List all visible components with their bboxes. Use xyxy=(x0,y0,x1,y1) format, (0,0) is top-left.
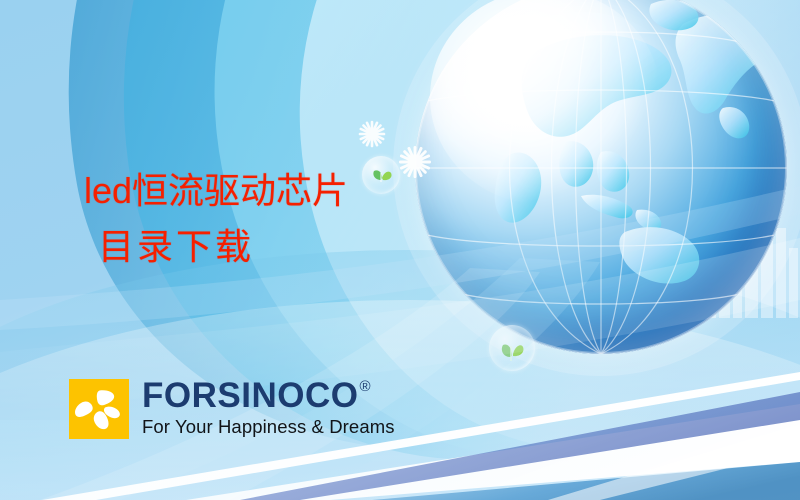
brand-logo[interactable]: FORSINOCO ® For Your Happiness & Dreams xyxy=(69,379,395,439)
sparkle-asterisk-icon xyxy=(398,145,432,179)
logo-wordmark: FORSINOCO ® xyxy=(142,377,395,415)
logo-brand-name: FORSINOCO xyxy=(142,377,358,415)
forsinoco-pinwheel-icon xyxy=(69,379,129,439)
registered-trademark-icon: ® xyxy=(359,379,371,394)
four-petal-pinwheel-icon xyxy=(69,379,129,439)
bubble-with-leaf-icon xyxy=(489,325,535,371)
sparkle-asterisk-icon xyxy=(358,120,386,148)
page-title: led恒流驱动芯片 目录下载 xyxy=(84,163,348,275)
headline-line-1: led恒流驱动芯片 xyxy=(84,170,348,211)
globe-icon xyxy=(415,0,787,354)
bubble-with-leaf-icon xyxy=(362,156,400,194)
logo-tagline: For Your Happiness & Dreams xyxy=(142,416,395,437)
logo-text-block: FORSINOCO ® For Your Happiness & Dreams xyxy=(142,377,395,437)
headline-line-2: 目录下载 xyxy=(84,219,348,275)
promo-banner: led恒流驱动芯片 目录下载 FORSINOCO ® For Your Happ… xyxy=(0,0,800,500)
